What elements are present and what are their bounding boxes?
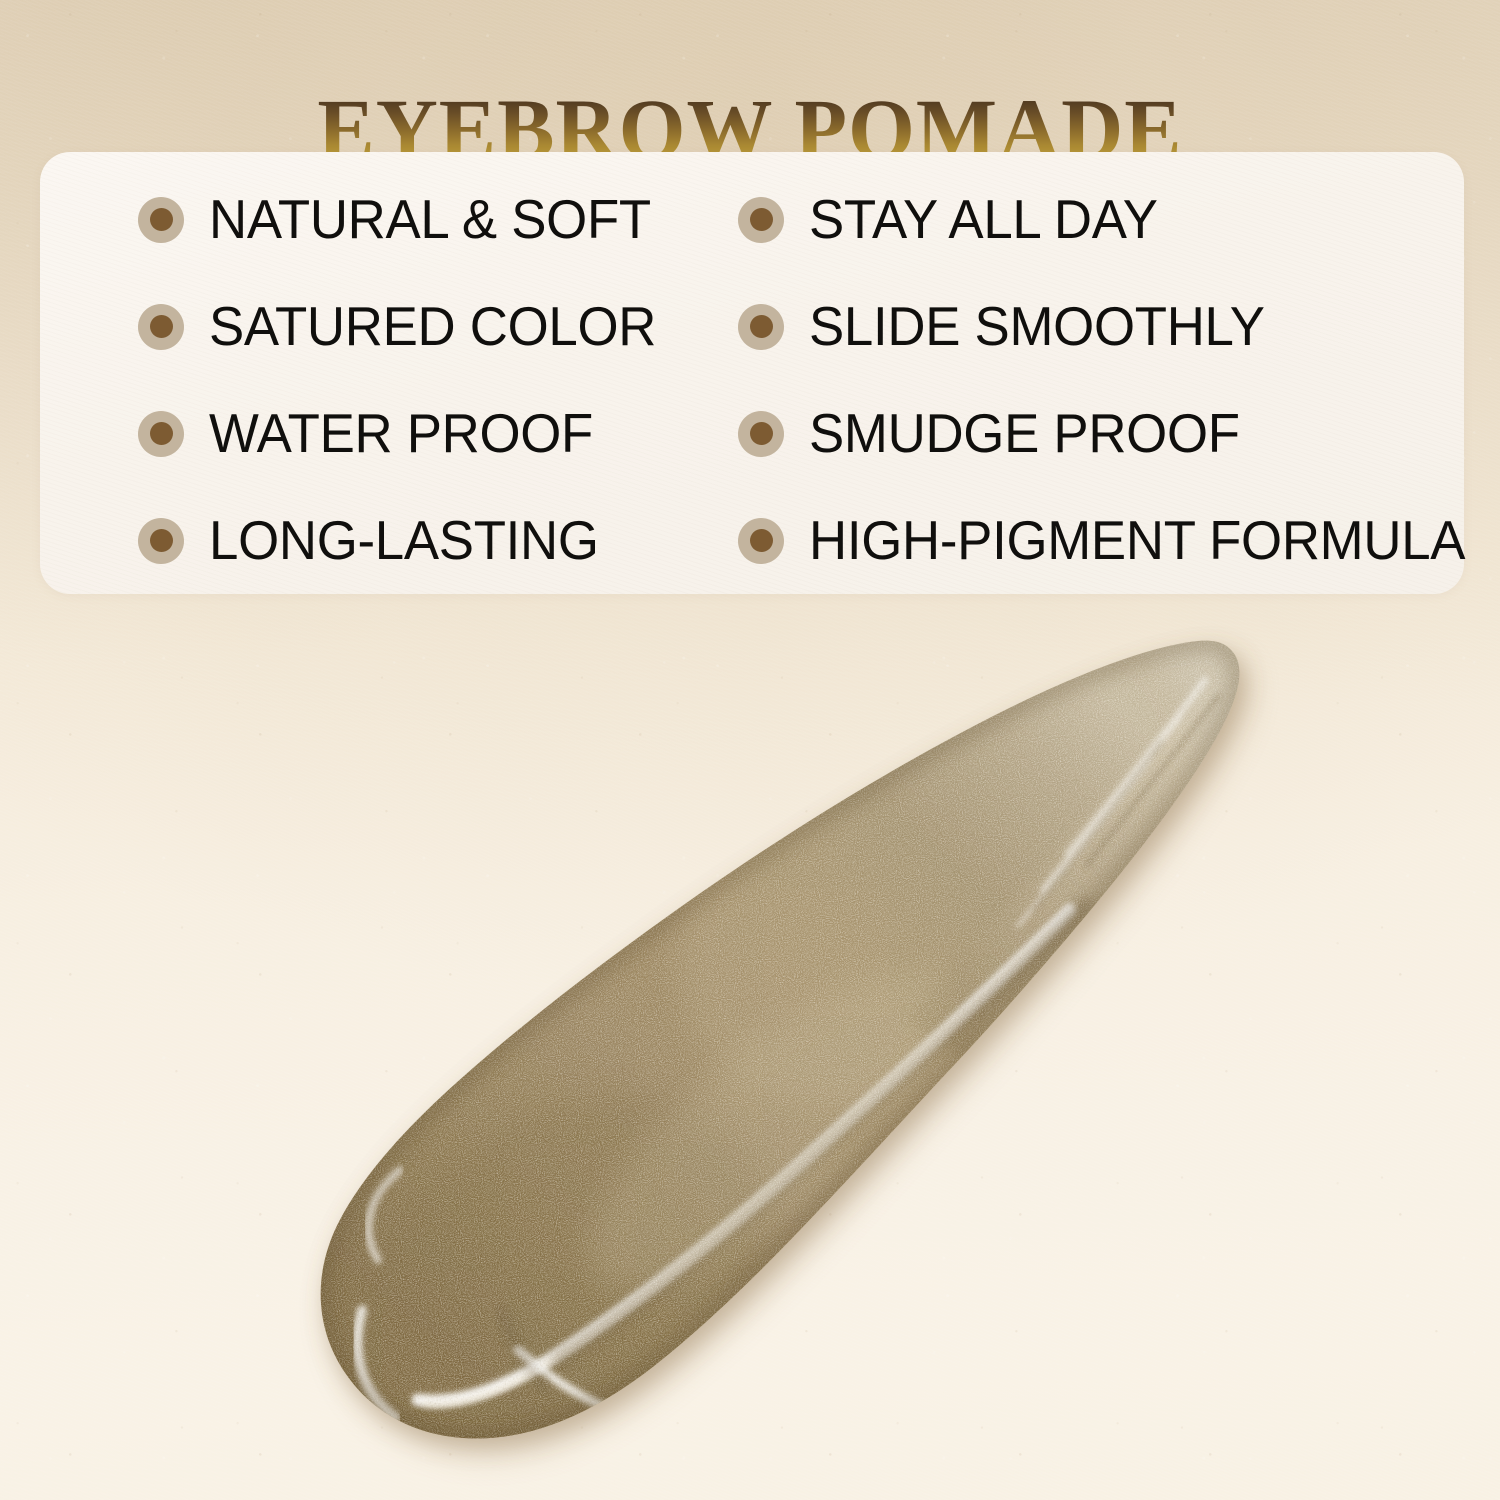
bullet-dot-icon — [138, 411, 184, 457]
feature-label: STAY ALL DAY — [809, 192, 1158, 247]
feature-item-stay-all-day: STAY ALL DAY — [738, 166, 1493, 273]
feature-item-natural-soft: NATURAL & SOFT — [138, 166, 738, 273]
feature-item-satured-color: SATURED COLOR — [138, 273, 738, 380]
bullet-core-icon — [750, 315, 773, 338]
bullet-core-icon — [750, 529, 773, 552]
bullet-core-icon — [750, 422, 773, 445]
feature-label: LONG-LASTING — [209, 513, 599, 568]
feature-label: SLIDE SMOOTHLY — [809, 299, 1265, 354]
feature-label: HIGH-PIGMENT FORMULA — [809, 513, 1465, 568]
bullet-dot-icon — [738, 304, 784, 350]
feature-label: NATURAL & SOFT — [209, 192, 651, 247]
features-card: NATURAL & SOFT STAY ALL DAY SATURED COLO… — [40, 152, 1464, 594]
product-feature-graphic: EYEBROW POMADE NATURAL & SOFT STAY ALL D… — [0, 0, 1500, 1500]
feature-item-water-proof: WATER PROOF — [138, 380, 738, 487]
feature-item-smudge-proof: SMUDGE PROOF — [738, 380, 1493, 487]
feature-item-slide-smoothly: SLIDE SMOOTHLY — [738, 273, 1493, 380]
bullet-core-icon — [150, 315, 173, 338]
feature-item-long-lasting: LONG-LASTING — [138, 487, 738, 594]
bullet-dot-icon — [738, 518, 784, 564]
bullet-dot-icon — [738, 197, 784, 243]
bullet-core-icon — [750, 208, 773, 231]
feature-label: WATER PROOF — [209, 406, 593, 461]
feature-label: SMUDGE PROOF — [809, 406, 1240, 461]
bullet-core-icon — [150, 208, 173, 231]
bullet-core-icon — [150, 422, 173, 445]
feature-label: SATURED COLOR — [209, 299, 656, 354]
bullet-dot-icon — [738, 411, 784, 457]
bullet-dot-icon — [138, 518, 184, 564]
feature-item-high-pigment-formula: HIGH-PIGMENT FORMULA — [738, 487, 1493, 594]
features-list: NATURAL & SOFT STAY ALL DAY SATURED COLO… — [40, 152, 1464, 594]
bullet-dot-icon — [138, 304, 184, 350]
bullet-dot-icon — [138, 197, 184, 243]
bullet-core-icon — [150, 529, 173, 552]
